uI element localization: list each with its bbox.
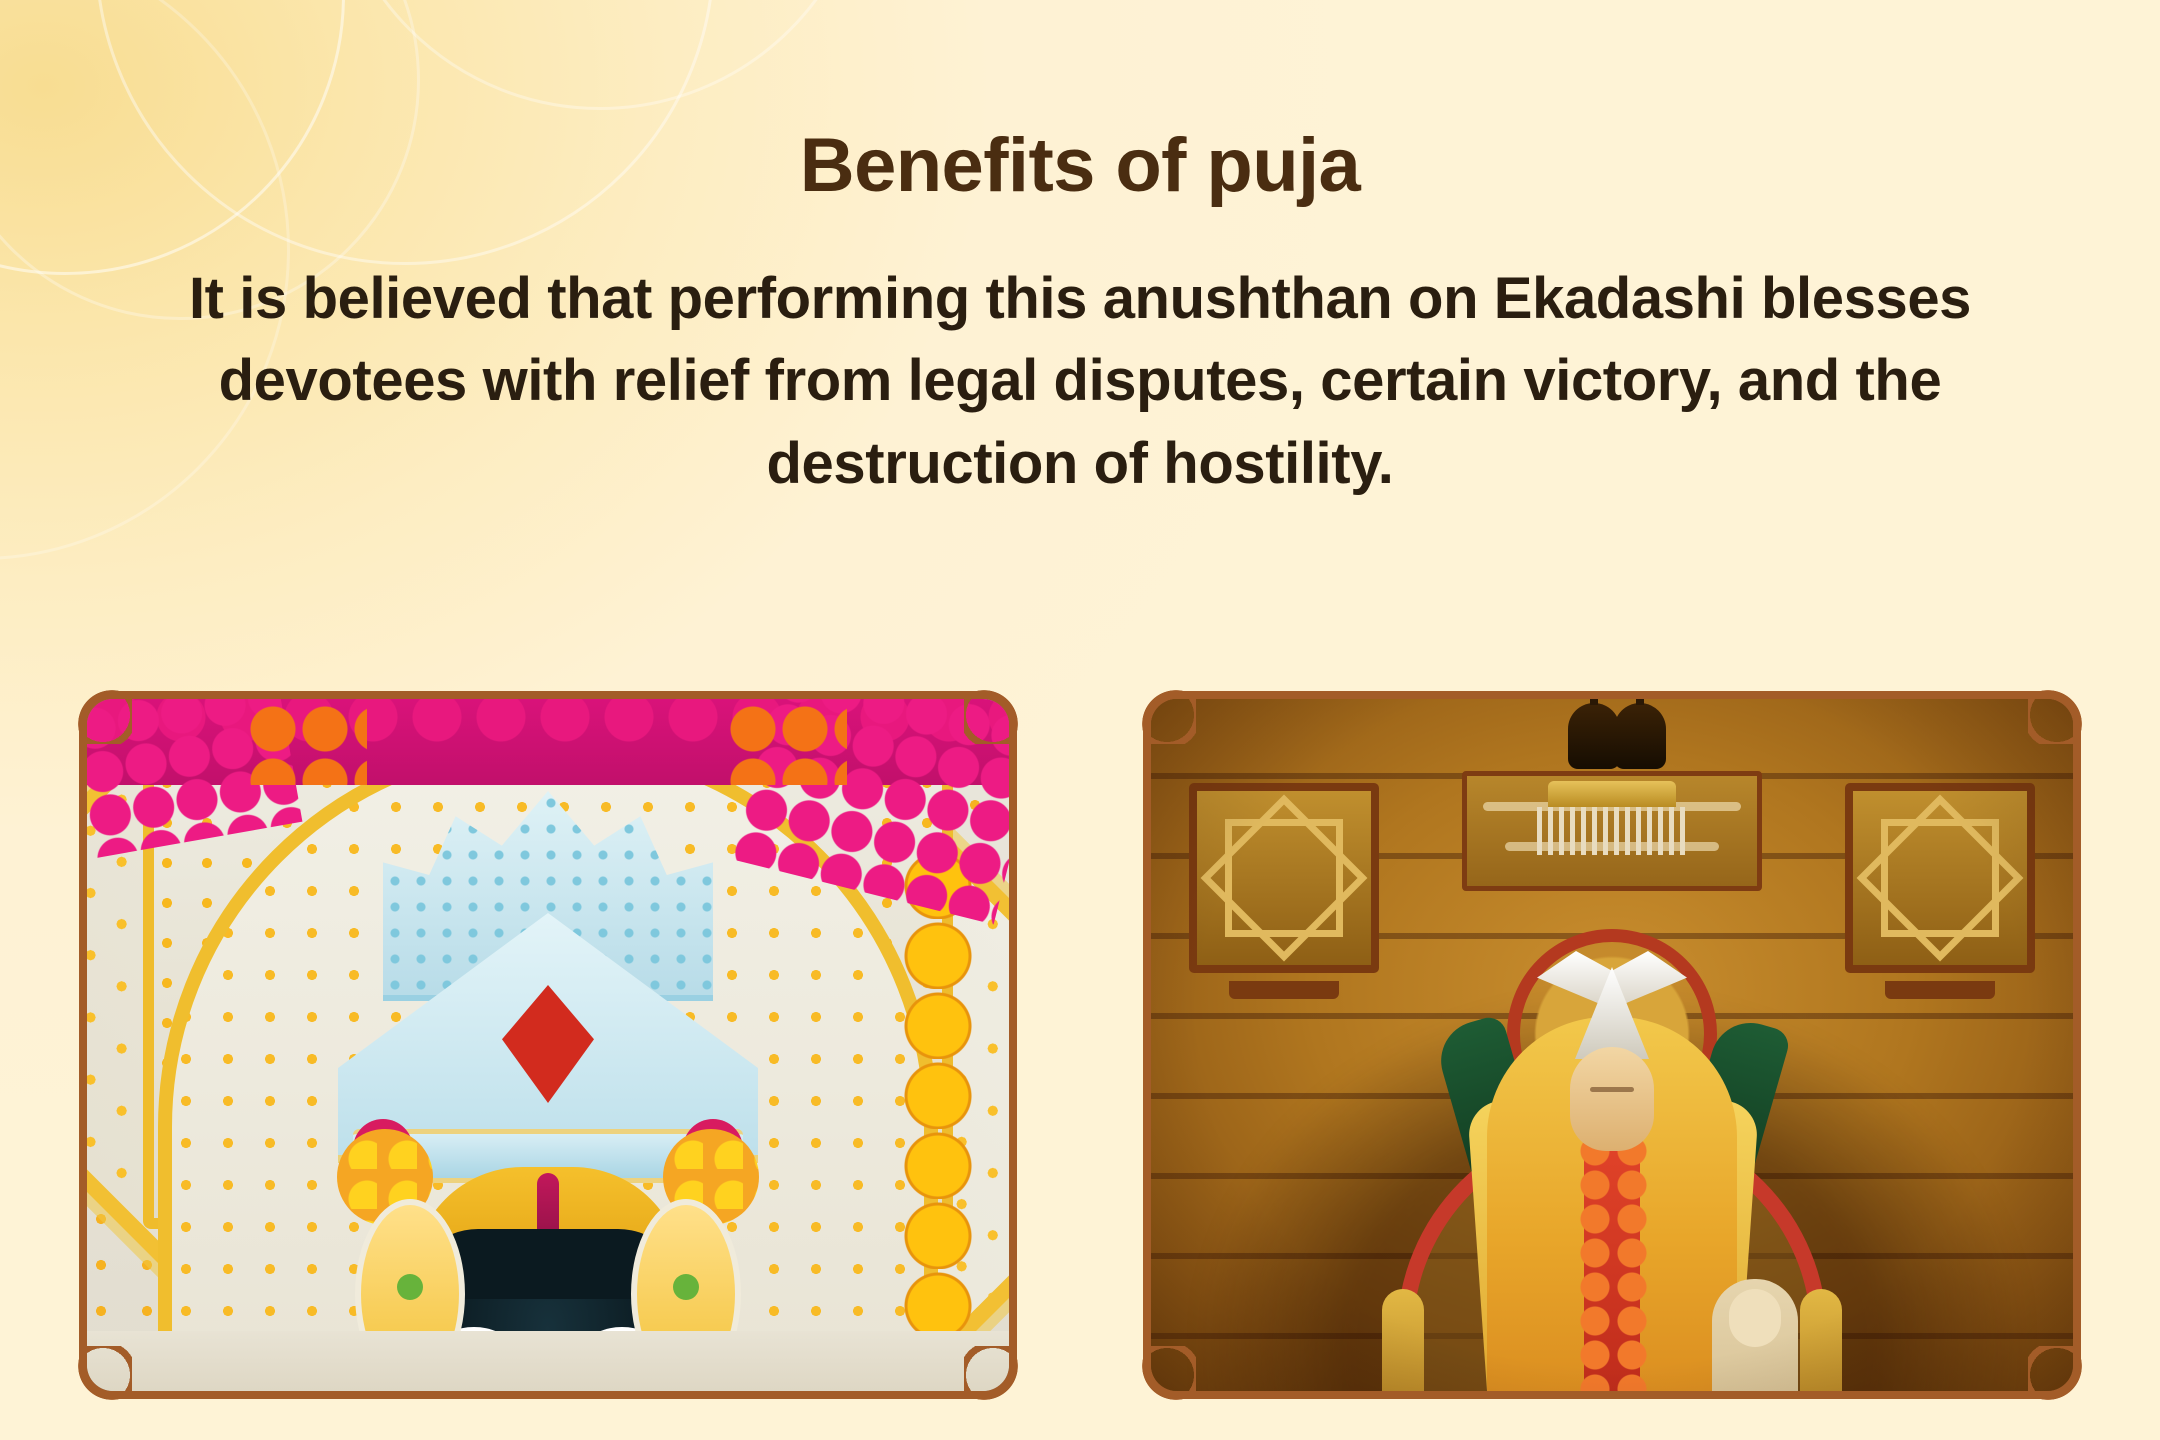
marigold-cluster-icon [727, 705, 847, 785]
marigold-cluster-icon [247, 705, 367, 785]
image-card-deity[interactable] [78, 690, 1018, 1400]
marigold-garland-icon [901, 849, 975, 1369]
page-body-text: It is believed that performing this anus… [140, 258, 2020, 505]
slide-root: Benefits of puja It is believed that per… [0, 0, 2160, 1440]
temple-sanctum-photo [1151, 699, 2073, 1391]
image-card-temple[interactable] [1142, 690, 2082, 1400]
deity-photo-artwork [87, 699, 1009, 1391]
page-title: Benefits of puja [0, 128, 2160, 204]
text-block: Benefits of puja It is believed that per… [0, 0, 2160, 505]
deity-darshan-photo [87, 699, 1009, 1391]
image-gallery [0, 690, 2160, 1400]
temple-photo-artwork [1151, 699, 2073, 1391]
